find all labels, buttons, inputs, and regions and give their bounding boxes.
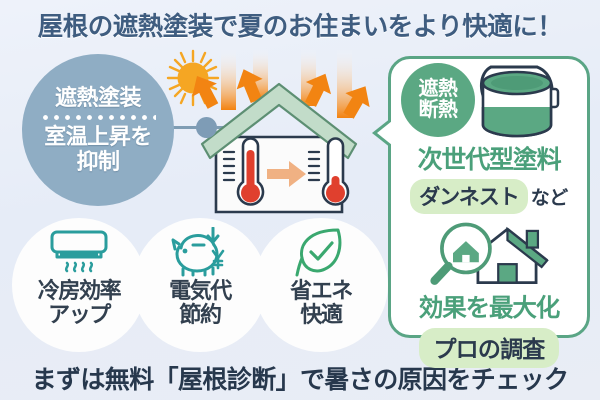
survey-row: プロの調査 [391,328,587,368]
benefit-label-line1: 省エネ [290,279,352,303]
badge-line2: 断熱 [419,100,458,121]
air-conditioner-icon [48,226,110,278]
center-illustration [160,48,398,220]
panel-notch-inner-icon [377,121,392,145]
product-row: ダンネスト など [391,179,587,214]
left-callout-line2: 室温上昇を [44,125,152,150]
benefit-energy-saving: 省エネ 快適 [254,218,388,352]
benefit-electricity-saving: 電気代 節約 [133,218,267,352]
left-callout-line1: 遮熱塗装 [55,86,141,111]
badge-line1: 遮熱 [419,79,458,100]
connector-dot [196,117,217,138]
page-title: 屋根の遮熱塗装で夏のお住まいをより快適に！ [0,6,600,43]
benefit-label: 省エネ 快適 [290,279,352,327]
benefit-label: 電気代 節約 [169,279,231,327]
title-text: 屋根の遮熱塗装で夏のお住まいをより快適に！ [0,6,600,43]
product-suffix: など [531,183,568,210]
benefits-group: 冷房効率 アップ [12,218,388,352]
benefit-cooling-efficiency: 冷房効率 アップ [12,218,146,352]
magnifier-house-icon [419,218,559,290]
benefit-label-line1: 電気代 [169,279,231,303]
insulation-badge: 遮熱 断熱 [401,63,475,137]
left-callout-line3: 抑制 [76,150,119,175]
benefit-label: 冷房効率 アップ [38,279,120,327]
right-info-panel: 遮熱 断熱 次世代型塗料 ダンネスト など [388,56,590,338]
benefit-label-line1: 冷房効率 [38,279,120,303]
benefit-label-line2: 節約 [169,303,231,327]
dotted-divider-icon [40,114,156,121]
survey-pill: プロの調査 [419,328,558,368]
benefit-label-line2: アップ [38,303,120,327]
piggy-bank-yen-icon [169,226,231,278]
left-callout-circle: 遮熱塗装 室温上昇を 抑制 [22,54,174,206]
panel-headline-effect: 効果を最大化 [391,289,587,324]
product-name-pill: ダンネスト [410,179,528,214]
benefit-label-line2: 快適 [290,303,352,327]
poster-root: 屋根の遮熱塗装で夏のお住まいをより快適に！ [0,0,600,400]
leaf-check-icon [293,226,349,278]
paint-can-icon [467,59,579,148]
panel-top-row: 遮熱 断熱 [391,59,587,139]
